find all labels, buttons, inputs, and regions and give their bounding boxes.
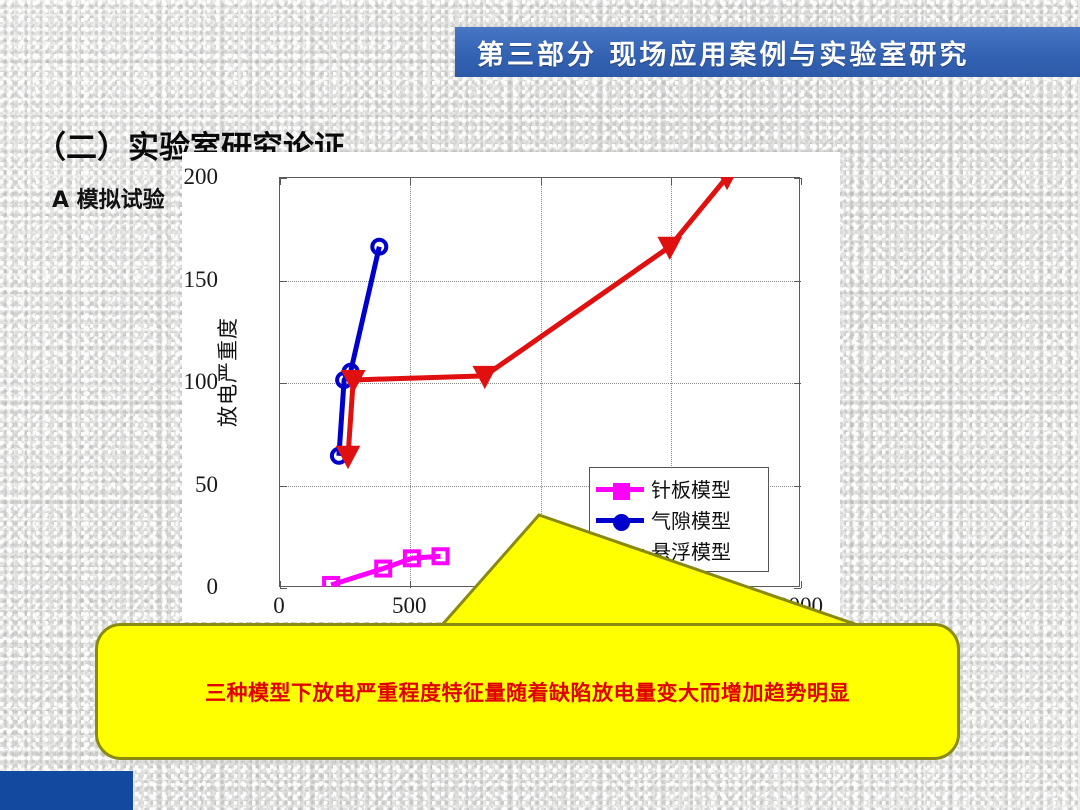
- figure-panel: 放电严重度 放电量/pC 050100150200050010001500200…: [182, 152, 840, 622]
- x-tick-label: 2000: [777, 593, 823, 619]
- y-tick-mark: [794, 588, 801, 589]
- chart-legend: 针板模型 气隙模型 悬浮模型: [589, 467, 769, 572]
- legend-label: 悬浮模型: [651, 536, 731, 565]
- legend-swatch-icon: [596, 482, 644, 496]
- series-line: [348, 177, 727, 456]
- x-tick-mark: [801, 581, 802, 588]
- legend-swatch-icon: [596, 513, 644, 527]
- legend-label: 气隙模型: [651, 505, 731, 534]
- chart-canvas: 放电严重度 放电量/pC 050100150200050010001500200…: [182, 152, 840, 622]
- legend-label: 针板模型: [651, 474, 731, 503]
- y-tick-label: 100: [128, 369, 218, 395]
- legend-item-2: 悬浮模型: [596, 535, 762, 566]
- series-line: [339, 247, 379, 456]
- y-tick-label: 200: [128, 164, 218, 190]
- series-marker: [476, 368, 494, 385]
- y-tick-label: 150: [128, 267, 218, 293]
- x-tick-label: 1500: [647, 593, 693, 619]
- legend-swatch-icon: [596, 544, 644, 558]
- y-tick-label: 50: [128, 472, 218, 498]
- header-banner: 第三部分 现场应用案例与实验室研究: [455, 27, 1080, 77]
- x-tick-label: 500: [392, 593, 427, 619]
- y-tick-mark: [280, 588, 287, 589]
- y-tick-label: 0: [128, 574, 218, 600]
- callout-text: 三种模型下放电严重程度特征量随着缺陷放电量变大而增加趋势明显: [205, 677, 850, 707]
- x-tick-label: 0: [273, 593, 285, 619]
- footer-accent-block: [0, 771, 133, 810]
- callout-box: 三种模型下放电严重程度特征量随着缺陷放电量变大而增加趋势明显: [95, 623, 960, 760]
- legend-item-0: 针板模型: [596, 473, 762, 504]
- header-banner-title: 第三部分 现场应用案例与实验室研究: [477, 33, 969, 72]
- x-tick-label: 1000: [517, 593, 563, 619]
- x-tick-mark: [801, 178, 802, 185]
- legend-item-1: 气隙模型: [596, 504, 762, 535]
